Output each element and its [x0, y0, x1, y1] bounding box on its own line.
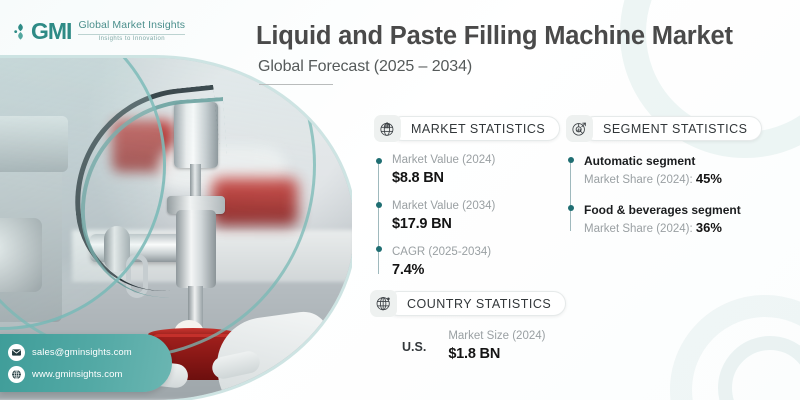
- contact-website-text: www.gminsights.com: [32, 369, 123, 380]
- leaf-icon: [14, 23, 27, 41]
- market-stat-label: Market Value (2024): [392, 153, 560, 169]
- globe-bar-chart-icon: [374, 115, 401, 142]
- segment-rail-dot-2: [568, 205, 574, 211]
- country-statistics-panel: COUNTRY STATISTICS U.S. Market Size (202…: [370, 290, 566, 364]
- contact-email-text: sales@gminsights.com: [32, 347, 132, 358]
- country-statistics-header: COUNTRY STATISTICS: [370, 290, 566, 317]
- subtitle-underline: [259, 84, 333, 85]
- segment-stat-share-value: 36%: [696, 220, 722, 235]
- segment-statistics-title: SEGMENT STATISTICS: [582, 116, 762, 141]
- market-stat-value: 7.4%: [392, 261, 560, 281]
- globe-icon: [8, 366, 25, 383]
- page-subtitle: Global Forecast (2025 – 2034): [258, 58, 472, 76]
- pie-chart-arrow-icon: [566, 115, 593, 142]
- globe-icon: [370, 290, 397, 317]
- contact-website-row[interactable]: www.gminsights.com: [8, 366, 162, 383]
- envelope-icon: [8, 344, 25, 361]
- country-name: U.S.: [402, 329, 426, 354]
- segment-statistics-panel: SEGMENT STATISTICS Automatic segment Mar…: [566, 115, 762, 237]
- contact-email-row[interactable]: sales@gminsights.com: [8, 344, 162, 361]
- segment-stat-share-label: Market Share (2024):: [584, 223, 696, 235]
- market-statistics-panel: MARKET STATISTICS Market Value (2024) $8…: [374, 115, 560, 280]
- logo-company-name: Global Market Insights: [78, 20, 185, 32]
- market-rail-dot-1: [376, 158, 382, 164]
- segment-rail-line: [570, 159, 571, 231]
- segment-statistics-header: SEGMENT STATISTICS: [566, 115, 762, 142]
- segment-rail-dot-1: [568, 157, 574, 163]
- contact-pill: sales@gminsights.com www.gminsights.com: [0, 334, 172, 392]
- market-stat-item: CAGR (2025-2034) 7.4%: [392, 245, 560, 280]
- segment-stat-share-label: Market Share (2024):: [584, 174, 696, 186]
- market-statistics-header: MARKET STATISTICS: [374, 115, 560, 142]
- segment-stat-title: Food & beverages segment: [584, 202, 762, 219]
- logo-abbreviation: GMI: [31, 20, 71, 43]
- segment-stat-title: Automatic segment: [584, 153, 762, 170]
- market-rail-line: [378, 159, 379, 274]
- market-statistics-title: MARKET STATISTICS: [390, 116, 560, 141]
- segment-stat-share-value: 45%: [696, 171, 722, 186]
- market-stat-item: Market Value (2024) $8.8 BN: [392, 153, 560, 188]
- segment-stat-share: Market Share (2024): 36%: [584, 219, 762, 237]
- logo-wordmark: Global Market Insights Insights to Innov…: [78, 20, 185, 42]
- market-stat-item: Market Value (2034) $17.9 BN: [392, 199, 560, 234]
- market-stat-label: Market Value (2034): [392, 199, 560, 215]
- market-stat-label: CAGR (2025-2034): [392, 245, 560, 261]
- market-stat-value: $8.8 BN: [392, 169, 560, 189]
- gmi-logo[interactable]: GMI Global Market Insights Insights to I…: [14, 20, 185, 43]
- country-value-group: Market Size (2024) $1.8 BN: [448, 329, 545, 364]
- infographic-canvas: sales@gminsights.com www.gminsights.com …: [0, 0, 800, 400]
- market-rail-dot-2: [376, 202, 382, 208]
- logo-divider: [78, 34, 185, 35]
- segment-statistics-list: Automatic segment Market Share (2024): 4…: [566, 153, 762, 237]
- segment-stat-item: Food & beverages segment Market Share (2…: [584, 202, 762, 237]
- country-statistics-row: U.S. Market Size (2024) $1.8 BN: [402, 329, 566, 364]
- market-statistics-list: Market Value (2024) $8.8 BN Market Value…: [374, 153, 560, 280]
- segment-stat-item: Automatic segment Market Share (2024): 4…: [584, 153, 762, 188]
- logo-tagline: Insights to Innovation: [78, 36, 185, 43]
- segment-stat-share: Market Share (2024): 45%: [584, 170, 762, 188]
- country-stat-label: Market Size (2024): [448, 329, 545, 345]
- country-stat-value: $1.8 BN: [448, 345, 545, 365]
- market-stat-value: $17.9 BN: [392, 215, 560, 235]
- country-statistics-title: COUNTRY STATISTICS: [386, 291, 566, 316]
- page-title: Liquid and Paste Filling Machine Market: [256, 22, 733, 51]
- market-rail-dot-3: [376, 246, 382, 252]
